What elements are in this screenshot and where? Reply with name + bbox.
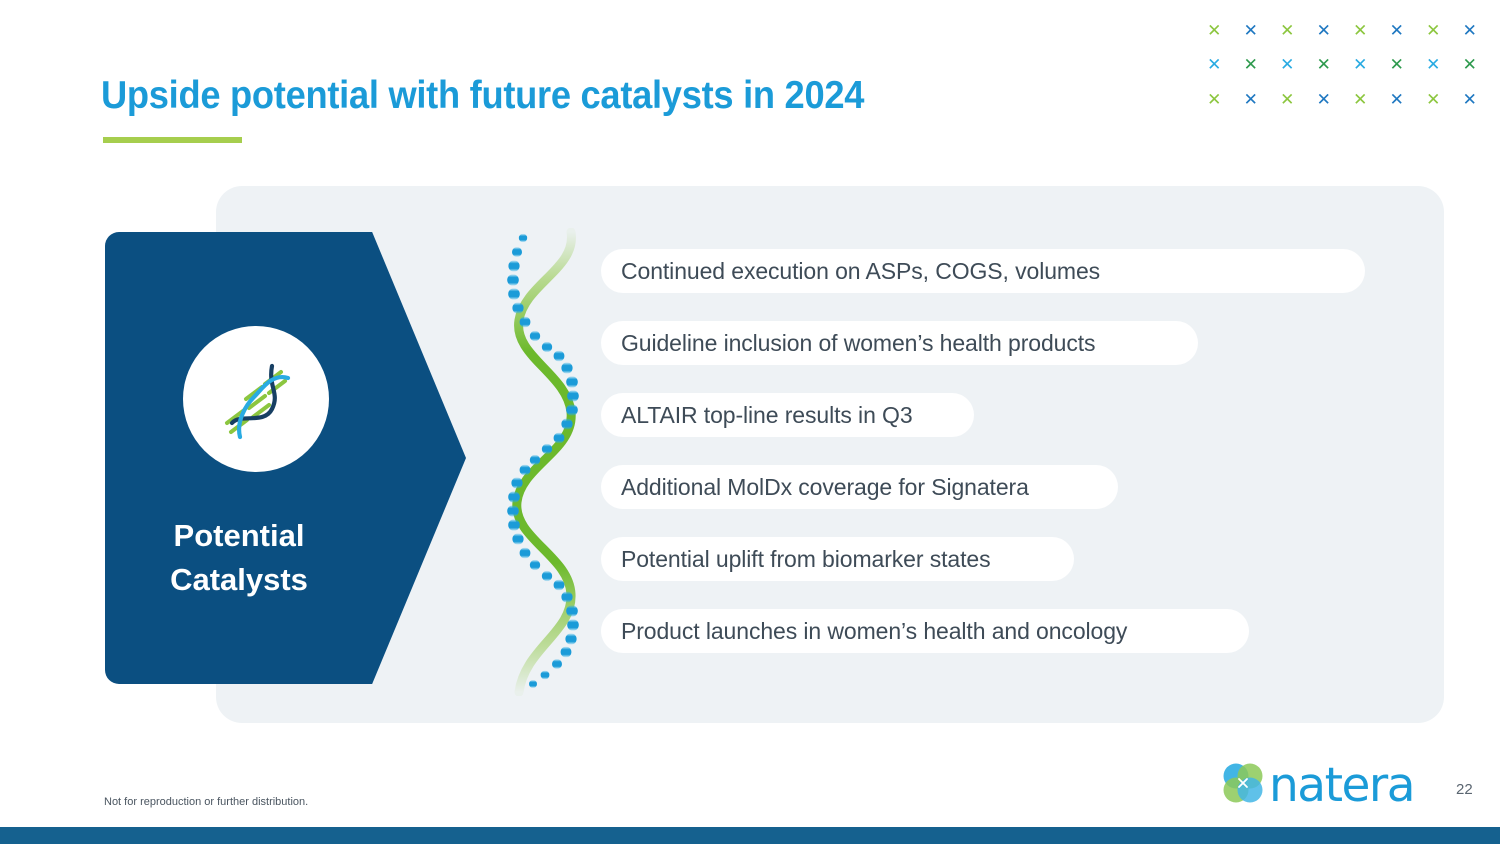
catalyst-pill-label: Continued execution on ASPs, COGS, volum… [621,258,1100,285]
natera-logo: natera [1221,761,1417,809]
potential-catalysts-card: Potential Catalysts [105,232,466,684]
x-mark-icon: ✕ [1426,57,1440,74]
catalyst-pill[interactable]: ALTAIR top-line results in Q3 [601,393,974,437]
catalyst-pill-label: Product launches in women’s health and o… [621,618,1127,645]
card-label-line1: Potential [105,514,373,558]
title-underline-accent [103,137,242,143]
catalyst-pill-label: Additional MolDx coverage for Signatera [621,474,1029,501]
dna-helix-graphic [497,228,597,696]
card-label-line2: Catalysts [105,558,373,602]
x-mark-icon: ✕ [1244,23,1258,40]
x-mark-icon: ✕ [1463,23,1477,40]
x-mark-icon: ✕ [1280,92,1294,109]
x-mark-icon: ✕ [1390,92,1404,109]
x-mark-icon: ✕ [1207,57,1221,74]
natera-logo-mark [1221,761,1265,805]
catalyst-pill[interactable]: Additional MolDx coverage for Signatera [601,465,1118,509]
catalyst-pill[interactable]: Guideline inclusion of women’s health pr… [601,321,1198,365]
x-mark-icon: ✕ [1426,92,1440,109]
x-mark-icon: ✕ [1317,57,1331,74]
disclaimer-text: Not for reproduction or further distribu… [104,796,308,808]
dna-badge [183,326,329,472]
x-mark-icon: ✕ [1353,57,1367,74]
x-mark-icon: ✕ [1390,57,1404,74]
x-mark-icon: ✕ [1280,23,1294,40]
x-mark-icon: ✕ [1280,57,1294,74]
page-title: Upside potential with future catalysts i… [101,74,864,118]
x-mark-icon: ✕ [1353,92,1367,109]
x-mark-icon: ✕ [1207,23,1221,40]
dna-helix-icon [210,353,302,445]
x-mark-icon: ✕ [1317,23,1331,40]
catalyst-pill[interactable]: Potential uplift from biomarker states [601,537,1074,581]
x-mark-icon: ✕ [1390,23,1404,40]
x-mark-icon: ✕ [1207,92,1221,109]
x-mark-icon: ✕ [1463,57,1477,74]
page-number: 22 [1456,781,1473,798]
catalyst-pill-label: Guideline inclusion of women’s health pr… [621,330,1095,357]
x-mark-icon: ✕ [1353,23,1367,40]
catalyst-pill[interactable]: Continued execution on ASPs, COGS, volum… [601,249,1365,293]
catalyst-pill[interactable]: Product launches in women’s health and o… [601,609,1249,653]
catalyst-pill-label: ALTAIR top-line results in Q3 [621,402,913,429]
x-mark-icon: ✕ [1463,92,1477,109]
card-label: Potential Catalysts [105,514,373,602]
natera-wordmark: natera [1269,758,1414,813]
x-mark-icon: ✕ [1317,92,1331,109]
decorative-x-pattern: ✕✕✕✕✕✕✕✕✕✕✕✕✕✕✕✕✕✕✕✕✕✕✕✕ [1196,14,1488,118]
x-mark-icon: ✕ [1244,57,1258,74]
x-mark-icon: ✕ [1244,92,1258,109]
bottom-accent-bar [0,827,1500,844]
catalyst-pill-label: Potential uplift from biomarker states [621,546,990,573]
x-mark-icon: ✕ [1426,23,1440,40]
